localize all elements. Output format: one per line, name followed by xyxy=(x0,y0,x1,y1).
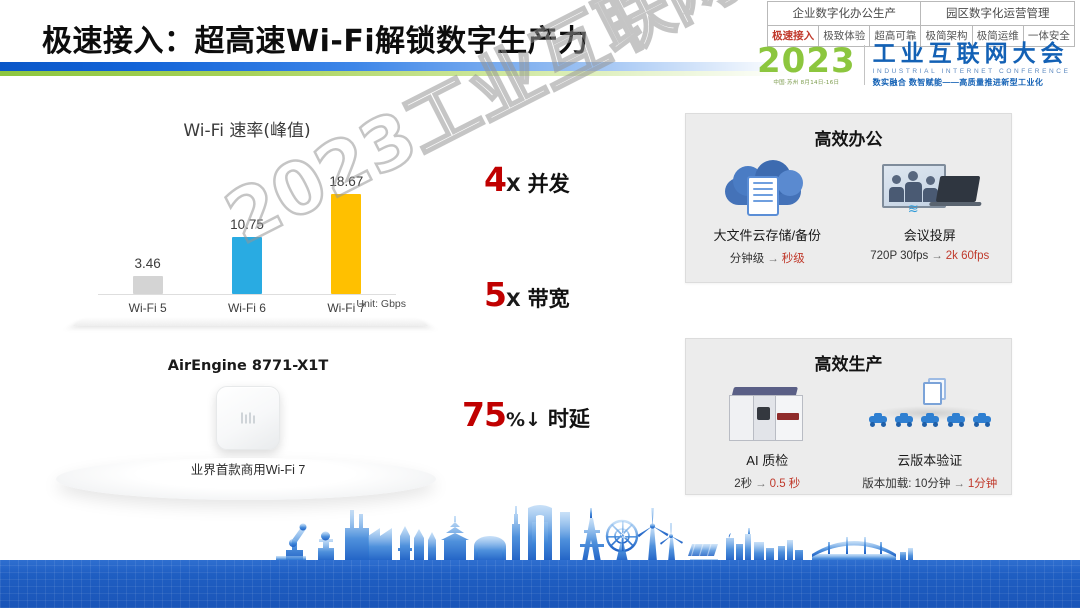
chart-x-axis xyxy=(98,294,396,295)
cell-name: 云版本验证 xyxy=(853,450,1008,469)
arrow-icon: → xyxy=(953,478,965,490)
chart-bar-column: 18.67 xyxy=(297,155,395,294)
metric-label: 带宽 xyxy=(528,287,570,311)
kpi-after: 1分钟 xyxy=(968,478,997,490)
nav-group-park[interactable]: 园区数字化运营管理 xyxy=(921,2,1075,26)
chart-x-tick: Wi-Fi 6 xyxy=(198,301,296,315)
cell-name: AI 质检 xyxy=(690,450,845,469)
arrow-icon: → xyxy=(767,253,779,265)
metric-number: 75 xyxy=(462,395,506,434)
cell-kpi: 2秒→0.5 秒 xyxy=(690,475,845,491)
metric-number: 4 xyxy=(484,160,506,199)
card-cell-cloud-storage: 大文件云存储/备份 分钟级→秒级 xyxy=(686,156,849,266)
agv-icon xyxy=(895,414,913,427)
conference-year: 2023 xyxy=(757,41,856,81)
title-rule-green xyxy=(0,71,790,76)
ground-grid xyxy=(0,560,1080,608)
chart-bars: 3.46 10.75 18.67 xyxy=(98,155,396,294)
conference-year-block: 2023 中国·苏州 8月14日-16日 xyxy=(757,44,856,87)
agv-icon xyxy=(947,414,965,427)
cloud-version-agv-icon xyxy=(853,381,1008,447)
bottom-decoration xyxy=(0,500,1080,608)
city-skyline-icon xyxy=(0,500,1080,562)
card-cell-ai-inspection: AI 质检 2秒→0.5 秒 xyxy=(686,381,849,491)
card-cell-cloud-version: 云版本验证 版本加载: 10分钟→1分钟 xyxy=(849,381,1012,491)
kpi-before: 分钟级 xyxy=(730,253,765,265)
chart-unit-note: Unit: Gbps xyxy=(356,298,406,310)
chart-bar-value: 18.67 xyxy=(329,174,363,189)
title-rule-blue xyxy=(0,62,785,71)
industrial-machine-icon xyxy=(690,381,845,447)
metric-bandwidth: 5X带宽 xyxy=(484,275,570,314)
chart-bar xyxy=(232,237,262,294)
cell-kpi: 版本加载: 10分钟→1分钟 xyxy=(853,475,1008,491)
chart-x-tick: Wi-Fi 5 xyxy=(99,301,197,315)
logo-divider xyxy=(864,45,865,85)
conference-name-block: 工业互联网大会 INDUSTRIAL INTERNET CONFERENCE 数… xyxy=(873,42,1071,88)
conference-logo: 2023 中国·苏州 8月14日-16日 工业互联网大会 INDUSTRIAL … xyxy=(757,40,1075,90)
chart-bar xyxy=(331,194,361,294)
agv-icon xyxy=(869,414,887,427)
conference-name-cn: 工业互联网大会 xyxy=(873,42,1071,66)
metric-label: 并发 xyxy=(528,172,570,196)
kpi-before: 720P 30fps xyxy=(870,250,928,262)
conference-name-en: INDUSTRIAL INTERNET CONFERENCE xyxy=(873,68,1071,75)
metric-unit: X xyxy=(506,174,521,196)
card-cells: AI 质检 2秒→0.5 秒 xyxy=(686,381,1011,491)
cell-name: 会议投屏 xyxy=(853,225,1008,244)
page-title: 极速接入：超高速Wi-Fi解锁数字生产力 xyxy=(42,16,589,60)
chart-x-tick-labels: Wi-Fi 5 Wi-Fi 6 Wi-Fi 7 xyxy=(98,301,396,315)
device-caption: 业界首款商用Wi-Fi 7 xyxy=(58,459,438,478)
cell-kpi: 720P 30fps→2k 60fps xyxy=(853,250,1008,262)
chart-base-plate xyxy=(73,318,428,326)
metric-label: 时延 xyxy=(548,407,590,431)
cloud-storage-icon xyxy=(690,156,845,222)
access-point-icon xyxy=(216,386,280,450)
metric-unit: X xyxy=(506,289,521,311)
kpi-after: 2k 60fps xyxy=(946,250,989,262)
nav-group-enterprise[interactable]: 企业数字化办公生产 xyxy=(768,2,921,26)
card-cells: 大文件云存储/备份 分钟级→秒级 xyxy=(686,156,1011,266)
chart-title: Wi-Fi 速率(峰值) xyxy=(62,116,432,141)
slide-root: 极速接入：超高速Wi-Fi解锁数字生产力 企业数字化办公生产 园区数字化运营管理… xyxy=(0,0,1080,608)
chart-bar-column: 10.75 xyxy=(198,155,296,294)
agv-icon xyxy=(921,414,939,427)
chart-bar-value: 3.46 xyxy=(135,256,161,271)
chart-bar xyxy=(133,276,163,294)
metrics-column: 4X并发 5X带宽 75%↓时延 xyxy=(462,150,662,450)
conference-tagline: 数实融合 数智赋能——高质量推进新型工业化 xyxy=(873,77,1071,88)
metric-unit: %↓ xyxy=(506,409,541,431)
kpi-after: 0.5 秒 xyxy=(770,478,801,490)
kpi-after: 秒级 xyxy=(782,253,805,265)
card-efficient-office: 高效办公 大文件云存储/备份 分钟级→秒级 xyxy=(685,113,1012,283)
cell-name: 大文件云存储/备份 xyxy=(690,225,845,244)
card-cell-meeting-screen: ≋ 会议投屏 720P 30fps→2k 60fps xyxy=(849,156,1012,266)
metric-concurrency: 4X并发 xyxy=(484,160,570,199)
chart-bar-column: 3.46 xyxy=(99,155,197,294)
nav-group-row: 企业数字化办公生产 园区数字化运营管理 xyxy=(768,2,1075,26)
kpi-before: 版本加载: 10分钟 xyxy=(862,478,950,490)
wifi-speed-chart: Wi-Fi 速率(峰值) 3.46 10.75 18.67 Wi-Fi 5 xyxy=(62,112,432,322)
chart-bar-value: 10.75 xyxy=(230,217,264,232)
device-showcase: AirEngine 8771-X1T 业界首款商用Wi-Fi 7 xyxy=(58,358,438,503)
chart-plot-area: 3.46 10.75 18.67 xyxy=(98,155,396,295)
card-efficient-production: 高效生产 AI 质检 2秒→0.5 秒 xyxy=(685,338,1012,495)
conference-year-subtitle: 中国·苏州 8月14日-16日 xyxy=(757,81,856,87)
card-title: 高效办公 xyxy=(686,125,1011,150)
metric-number: 5 xyxy=(484,275,506,314)
card-title: 高效生产 xyxy=(686,350,1011,375)
arrow-icon: → xyxy=(755,478,767,490)
arrow-icon: → xyxy=(931,250,943,262)
metric-latency: 75%↓时延 xyxy=(462,395,590,434)
meeting-screen-icon: ≋ xyxy=(853,156,1008,222)
cell-kpi: 分钟级→秒级 xyxy=(690,250,845,266)
agv-icon xyxy=(973,414,991,427)
device-model-name: AirEngine 8771-X1T xyxy=(58,358,438,374)
kpi-before: 2秒 xyxy=(734,478,752,490)
